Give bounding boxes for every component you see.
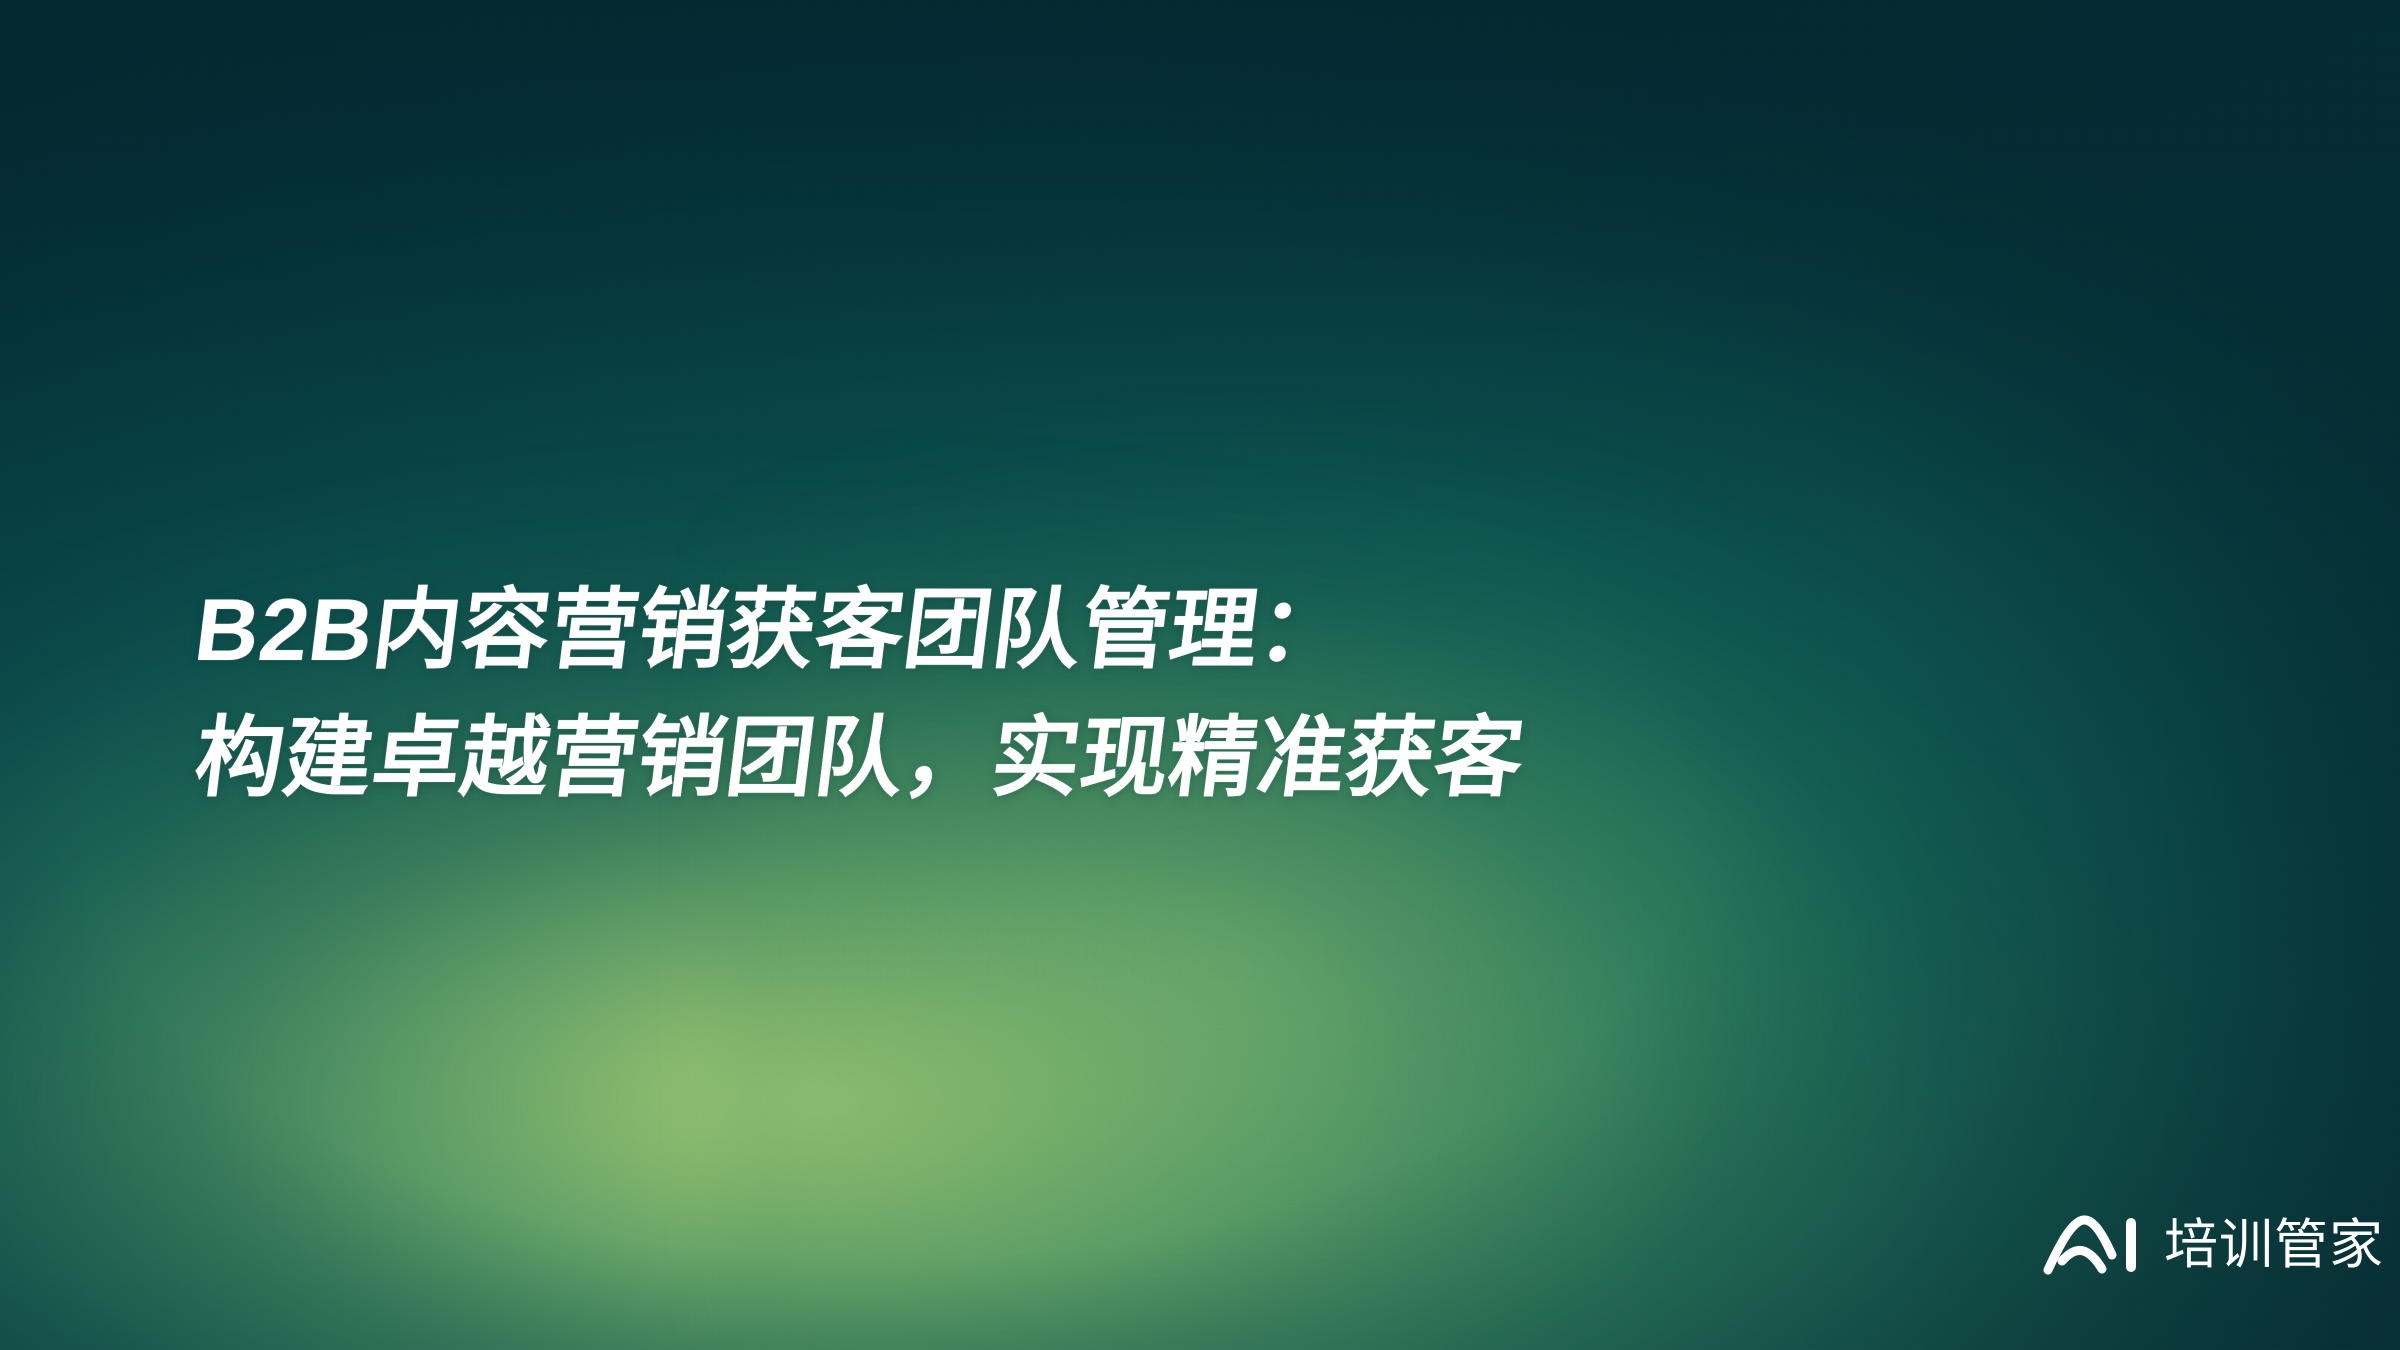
slide-title-line-2: 构建卓越营销团队，实现精准获客	[188, 694, 2104, 822]
slide-canvas: B2B内容营销获客团队管理： 构建卓越营销团队，实现精准获客 培训管家	[0, 0, 2400, 1350]
brand-logo-text: 培训管家	[2164, 1218, 2384, 1272]
ai-triangle-mark-icon	[2040, 1214, 2152, 1276]
brand-logo: 培训管家	[2040, 1206, 2384, 1284]
slide-title-line-1: B2B内容营销获客团队管理：	[188, 566, 2104, 694]
slide-title: B2B内容营销获客团队管理： 构建卓越营销团队，实现精准获客	[188, 566, 2088, 822]
